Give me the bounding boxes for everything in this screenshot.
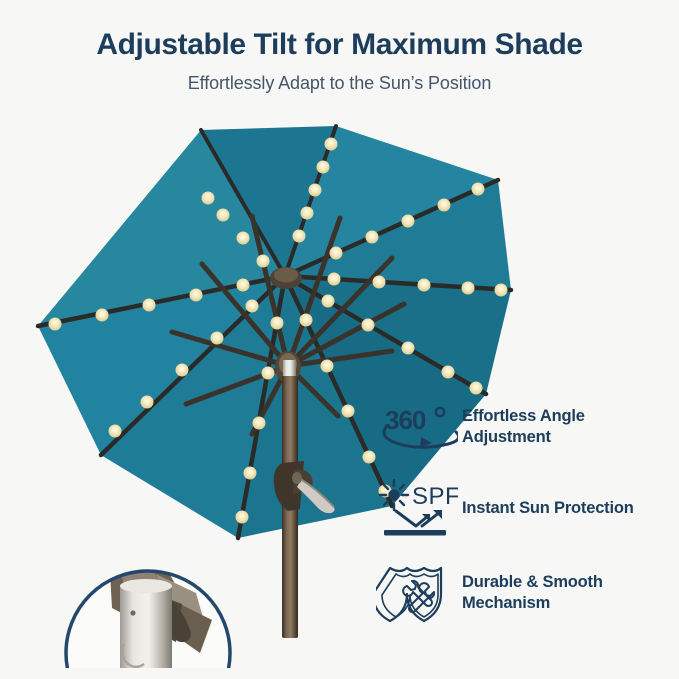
feature-label: Instant Sun Protection <box>462 498 634 519</box>
product-infographic: Adjustable Tilt for Maximum Shade Effort… <box>0 0 679 679</box>
svg-text:360: 360 <box>385 405 426 435</box>
shield-wrench-durability-icon <box>376 562 462 624</box>
svg-text:SPF: SPF <box>412 483 458 510</box>
feature-item-durable-mechanism: Durable & Smooth Mechanism <box>376 562 676 624</box>
tilt-mechanism-closeup-inset <box>66 571 230 668</box>
feature-item-angle-adjustment: 360 Effortless Angle Adjustment <box>376 396 676 458</box>
page-subtitle: Effortlessly Adapt to the Sun’s Position <box>0 73 679 94</box>
360-degree-rotation-icon: 360 <box>376 401 462 453</box>
feature-list: 360 Effortless Angle Adjustment <box>376 396 676 642</box>
feature-label: Effortless Angle Adjustment <box>462 406 676 448</box>
spf-sun-protection-icon: SPF <box>376 478 462 540</box>
header: Adjustable Tilt for Maximum Shade Effort… <box>0 28 679 94</box>
feature-label: Durable & Smooth Mechanism <box>462 572 676 614</box>
feature-item-sun-protection: SPF Instant Sun Protection <box>376 478 676 540</box>
page-title: Adjustable Tilt for Maximum Shade <box>0 28 679 63</box>
